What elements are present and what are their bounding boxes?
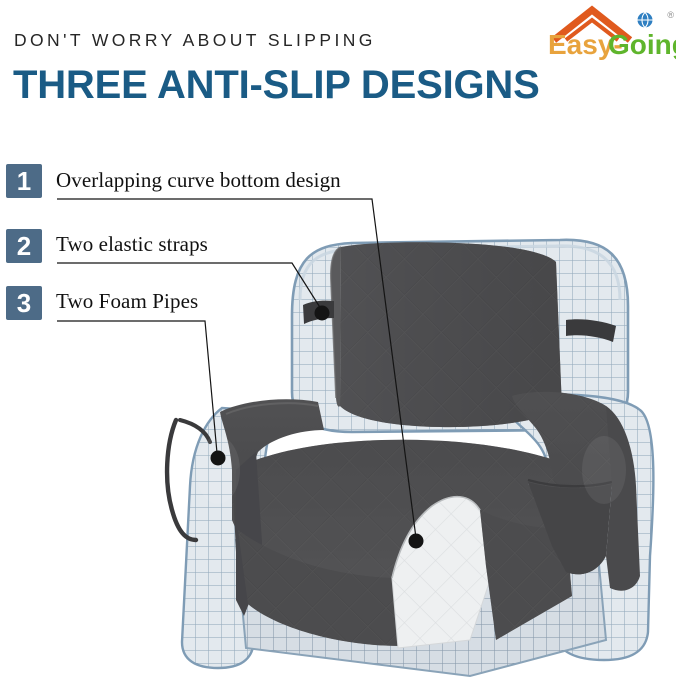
registered-mark: ®	[667, 10, 674, 20]
feature-badge-3: 3	[6, 286, 42, 320]
feature-label-2: Two elastic straps	[56, 232, 208, 257]
feature-label-3: Two Foam Pipes	[56, 289, 198, 314]
easy-going-logo: Easy- Going ®	[546, 4, 676, 60]
infographic-page: DON'T WORRY ABOUT SLIPPING THREE ANTI-SL…	[0, 0, 679, 694]
logo-word-two: Going	[608, 29, 676, 60]
feature-badge-1: 1	[6, 164, 42, 198]
header: DON'T WORRY ABOUT SLIPPING THREE ANTI-SL…	[0, 0, 679, 130]
feature-label-1: Overlapping curve bottom design	[56, 168, 341, 193]
globe-icon	[638, 13, 653, 28]
page-title: THREE ANTI-SLIP DESIGNS	[13, 63, 540, 108]
kicker-text: DON'T WORRY ABOUT SLIPPING	[14, 30, 376, 51]
feature-badge-2: 2	[6, 229, 42, 263]
